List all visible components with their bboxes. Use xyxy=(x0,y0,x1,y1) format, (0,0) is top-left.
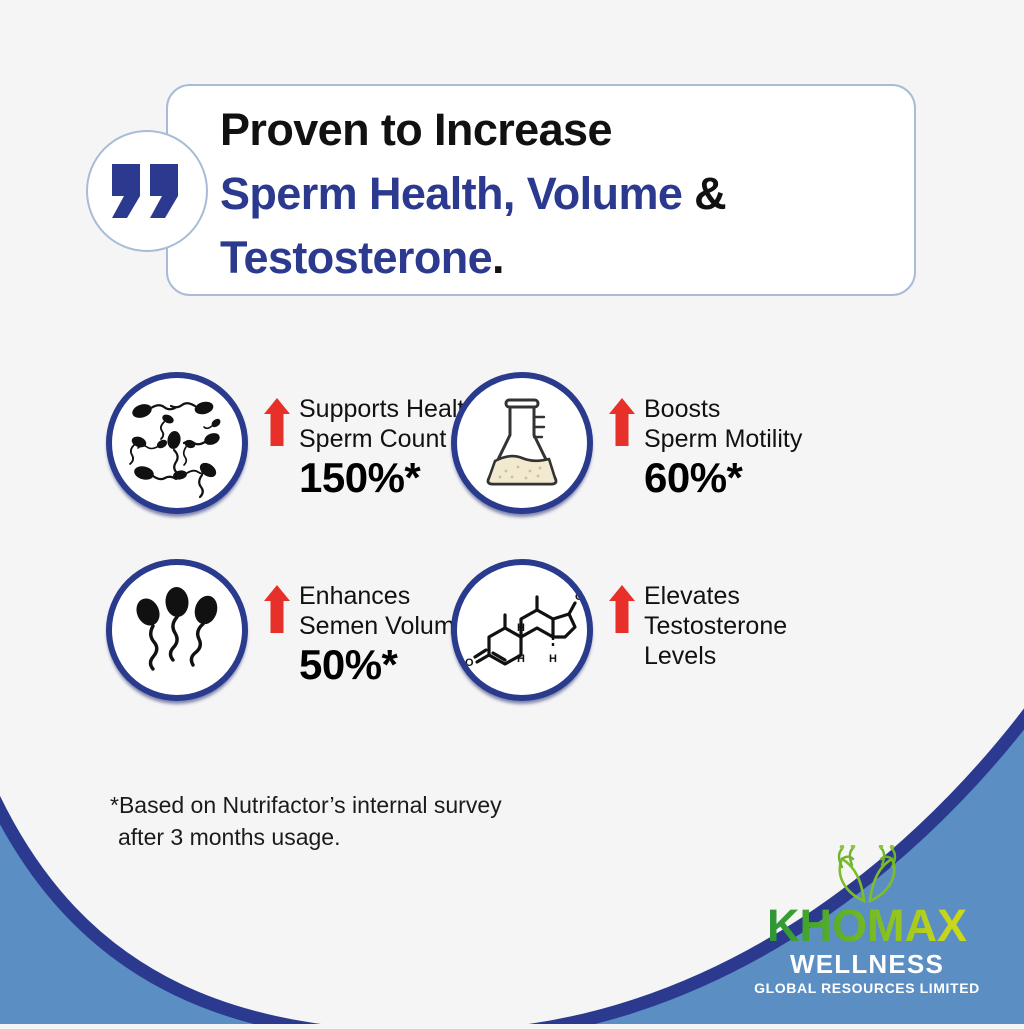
feature-grid: Supports Healthy Sperm Count 150%* xyxy=(0,372,1024,701)
feature-sperm-count: Supports Healthy Sperm Count 150%* xyxy=(0,372,445,514)
headline-line-3: Testosterone. xyxy=(220,226,910,290)
feature-row-2: Enhances Semen Volume 50%* xyxy=(0,559,1024,701)
footnote-line-2: after 3 months usage. xyxy=(110,821,502,853)
up-arrow-icon xyxy=(264,398,290,451)
headline-line-2-tail: & xyxy=(682,168,726,219)
feature-semen-volume: Enhances Semen Volume 50%* xyxy=(0,559,445,701)
labels-sperm-motility: Boosts Sperm Motility 60%* xyxy=(644,394,802,501)
feature-label-line-2: Testosterone xyxy=(644,611,787,641)
up-arrow-glyph xyxy=(609,398,635,446)
feature-label-line-1: Boosts xyxy=(644,394,802,424)
feature-row-1: Supports Healthy Sperm Count 150%* xyxy=(0,372,1024,514)
up-arrow-icon xyxy=(609,585,635,638)
feature-label-line-2: Sperm Motility xyxy=(644,424,802,454)
leaf-emblem-icon xyxy=(742,845,992,903)
molecule-h-label-1: H xyxy=(517,653,525,665)
labels-testosterone: Elevates Testosterone Levels xyxy=(644,581,787,671)
footnote-line-1: *Based on Nutrifactor’s internal survey xyxy=(110,789,502,821)
leaf-emblem-glyph xyxy=(812,845,922,903)
logo-wordmark: KHOMAX xyxy=(742,903,992,949)
feature-text-sperm-motility: Boosts Sperm Motility 60%* xyxy=(609,372,802,501)
testosterone-molecule-icon: OH O H H H xyxy=(451,559,593,701)
molecule-oh-label: OH xyxy=(575,591,585,603)
logo-tagline: GLOBAL RESOURCES LIMITED xyxy=(742,979,992,997)
headline-line-2-accent: Sperm Health, Volume xyxy=(220,168,682,219)
labels-semen-volume: Enhances Semen Volume 50%* xyxy=(299,581,469,688)
flask-icon xyxy=(451,372,593,514)
feature-label-line-1: Enhances xyxy=(299,581,469,611)
headline-line-3-accent: Testosterone xyxy=(220,232,492,283)
brand-logo: KHOMAX WELLNESS GLOBAL RESOURCES LIMITED xyxy=(742,845,992,997)
up-arrow-icon xyxy=(264,585,290,638)
sperm-cells-three-icon xyxy=(106,559,248,701)
headline-line-3-tail: . xyxy=(492,232,504,283)
sperm-cells-many-glyph xyxy=(112,378,242,508)
up-arrow-glyph xyxy=(609,585,635,633)
molecule-h-label-2: H xyxy=(549,653,557,665)
quote-mark-icon xyxy=(110,162,184,220)
footnote: *Based on Nutrifactor’s internal survey … xyxy=(110,789,502,853)
molecule-h-label-3: H xyxy=(517,622,525,634)
headline-card: Proven to Increase Sperm Health, Volume … xyxy=(166,84,916,296)
feature-sperm-motility: Boosts Sperm Motility 60%* xyxy=(445,372,905,514)
quote-badge xyxy=(86,130,208,252)
up-arrow-glyph xyxy=(264,398,290,446)
testosterone-molecule-glyph: OH O H H H xyxy=(459,567,585,693)
sperm-cells-many-icon xyxy=(106,372,248,514)
feature-text-semen-volume: Enhances Semen Volume 50%* xyxy=(264,559,469,688)
up-arrow-glyph xyxy=(264,585,290,633)
headline-line-2: Sperm Health, Volume & xyxy=(220,162,910,226)
flask-glyph xyxy=(462,383,582,503)
logo-subtitle: WELLNESS xyxy=(742,949,992,979)
feature-text-testosterone: Elevates Testosterone Levels xyxy=(609,559,787,671)
feature-label-line-3: Levels xyxy=(644,641,787,671)
sperm-cells-three-glyph xyxy=(117,570,237,690)
feature-value: 60%* xyxy=(644,455,802,501)
molecule-o-label: O xyxy=(465,657,474,669)
feature-testosterone: OH O H H H Elevates Testosterone xyxy=(445,559,905,701)
feature-label-line-2: Semen Volume xyxy=(299,611,469,641)
up-arrow-icon xyxy=(609,398,635,451)
feature-value: 50%* xyxy=(299,642,469,688)
headline-line-1: Proven to Increase xyxy=(220,98,910,162)
feature-label-line-1: Elevates xyxy=(644,581,787,611)
headline-text-block: Proven to Increase Sperm Health, Volume … xyxy=(220,98,910,290)
